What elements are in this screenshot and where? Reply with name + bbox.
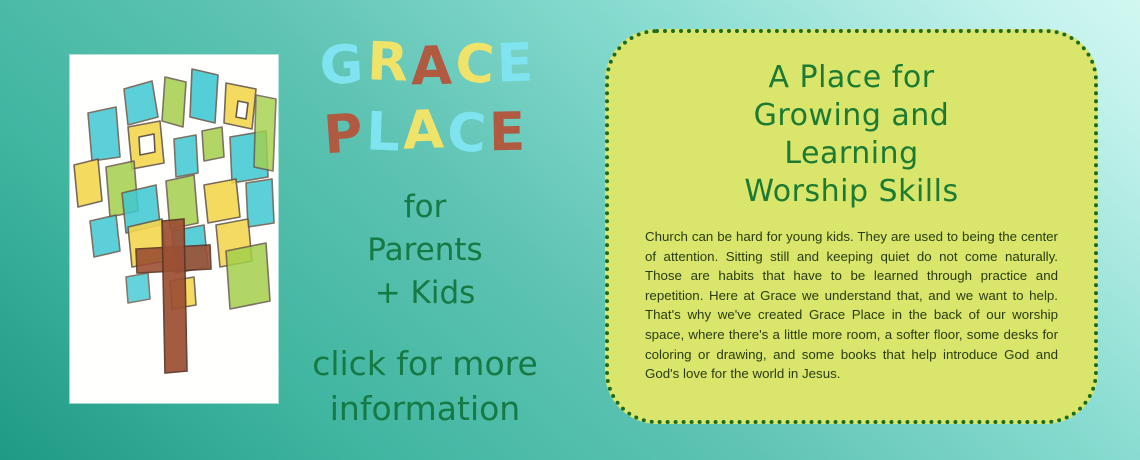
panel-heading-line-1: A Place for xyxy=(643,59,1060,97)
word-place-letter-1: P xyxy=(322,103,368,168)
subtitle-line-1: for xyxy=(286,186,564,229)
cta-line-2: information xyxy=(286,386,564,431)
panel-heading: A Place for Growing and Learning Worship… xyxy=(643,59,1060,211)
info-panel: A Place for Growing and Learning Worship… xyxy=(605,29,1098,424)
panel-heading-line-2: Growing and xyxy=(643,97,1060,135)
click-for-more-information-link[interactable]: click for more information xyxy=(286,341,564,431)
artwork-frame[interactable] xyxy=(70,55,278,403)
word-place-letter-5: E xyxy=(488,102,528,165)
word-place-letter-2: L xyxy=(365,101,404,164)
word-place-letter-3: A xyxy=(401,99,447,162)
grace-place-banner: GRACE PLACE for Parents + Kids click for… xyxy=(0,0,1140,460)
subtitle-lines: for Parents + Kids xyxy=(286,186,564,315)
subtitle-line-3: + Kids xyxy=(286,272,564,315)
word-grace-letter-1: G xyxy=(318,34,368,98)
panel-body-text: Church can be hard for young kids. They … xyxy=(643,227,1060,384)
cta-line-1: click for more xyxy=(286,341,564,386)
word-place-letter-4: C xyxy=(445,102,490,166)
subtitle-line-2: Parents xyxy=(286,229,564,272)
headline-block: GRACE PLACE for Parents + Kids click for… xyxy=(286,34,564,431)
crayon-drawing-tree-with-cross xyxy=(70,55,278,403)
word-grace-letter-2: R xyxy=(366,31,412,94)
word-grace-letter-3: A xyxy=(410,36,455,99)
word-grace-letter-4: C xyxy=(453,33,498,97)
panel-heading-line-3: Learning xyxy=(643,135,1060,173)
word-grace-letter-5: E xyxy=(495,32,536,95)
panel-heading-line-4: Worship Skills xyxy=(643,173,1060,211)
title-word-place: PLACE xyxy=(288,102,564,164)
title-word-grace: GRACE xyxy=(292,34,564,96)
